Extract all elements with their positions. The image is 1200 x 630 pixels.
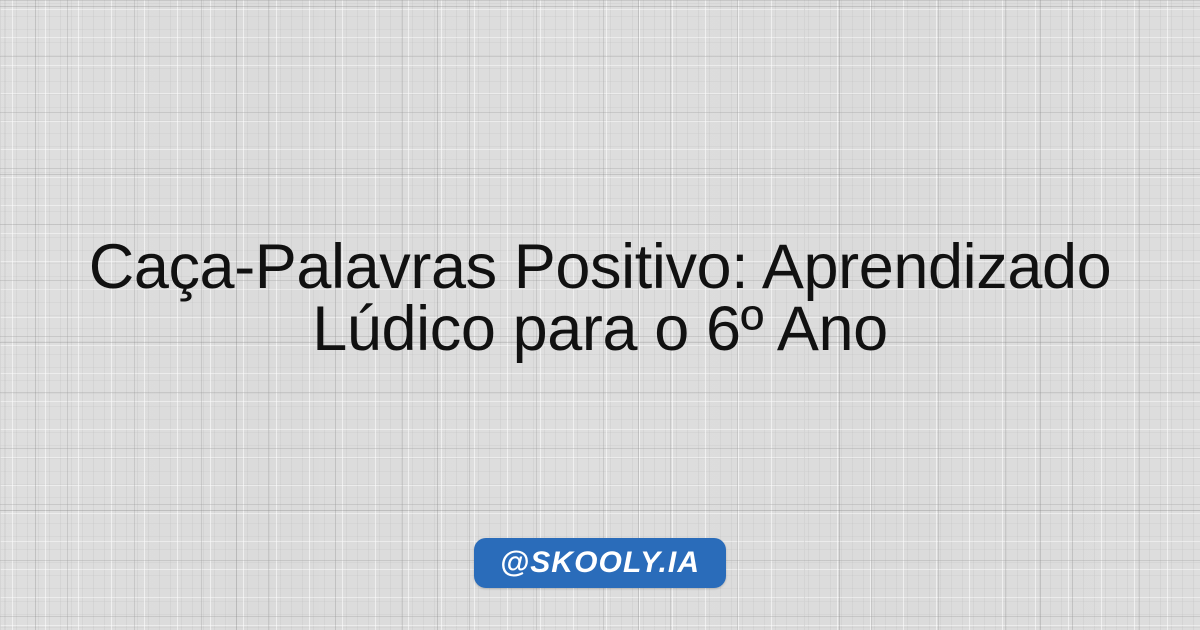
social-share-card: Caça-Palavras Positivo: Aprendizado Lúdi… [0, 0, 1200, 630]
brand-handle-badge: @SKOOLY.IA [474, 538, 726, 588]
brand-handle-label: @SKOOLY.IA [500, 548, 700, 578]
page-title: Caça-Palavras Positivo: Aprendizado Lúdi… [40, 236, 1160, 360]
handle-badge-row: @SKOOLY.IA [0, 538, 1200, 588]
